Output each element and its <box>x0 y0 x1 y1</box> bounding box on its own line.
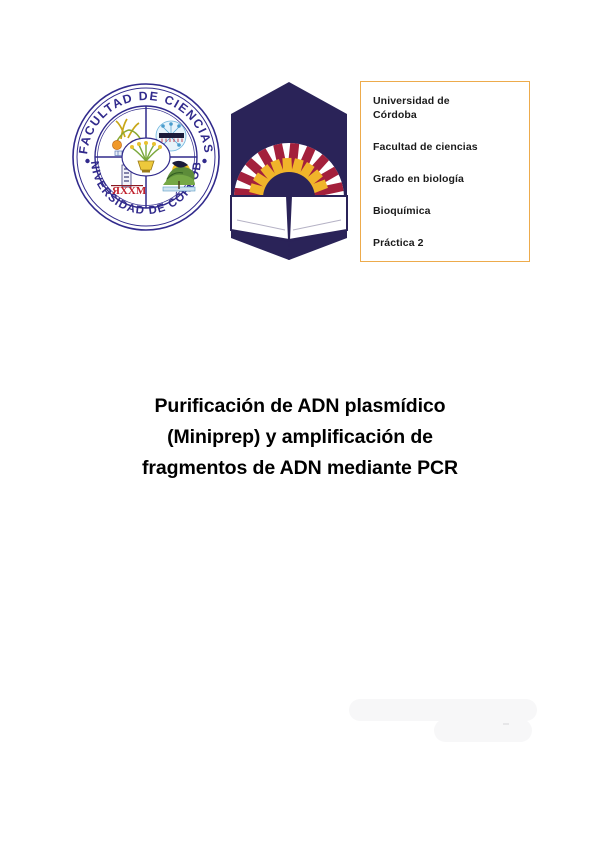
info-line-faculty: Facultad de ciencias <box>373 140 529 154</box>
title-line-2: (Miniprep) y amplificación de <box>70 422 530 453</box>
info-line-university: Universidad de Córdoba <box>373 94 529 122</box>
svg-text:ЯXXM: ЯXXM <box>112 185 147 197</box>
title-line-1: Purificación de ADN plasmídico <box>70 391 530 422</box>
erased-mark-speck <box>503 723 509 725</box>
info-line-subject: Bioquímica <box>373 204 529 218</box>
uco-logo-graphic <box>227 80 351 262</box>
faculty-seal-graphic: FACULTAD DE CIENCIAS UNIVERSIDAD DE CÓRD… <box>71 81 221 233</box>
universidad-de-cordoba-logo <box>227 80 351 262</box>
open-book-graphic <box>231 196 347 260</box>
erased-mark-upper <box>349 699 537 721</box>
erased-mark-lower-inner <box>438 721 530 742</box>
document-page: FACULTAD DE CIENCIAS UNIVERSIDAD DE CÓRD… <box>0 0 600 848</box>
info-line-degree: Grado en biología <box>373 172 529 186</box>
info-line-practice: Práctica 2 <box>373 236 529 250</box>
header-logos-band: FACULTAD DE CIENCIAS UNIVERSIDAD DE CÓRD… <box>0 0 600 290</box>
center-plant-emblem <box>122 138 170 176</box>
title-line-3: fragmentos de ADN mediante PCR <box>70 453 530 484</box>
document-title: Purificación de ADN plasmídico (Miniprep… <box>70 391 530 484</box>
course-info-box: Universidad de Córdoba Facultad de cienc… <box>360 81 530 262</box>
faculty-of-sciences-seal: FACULTAD DE CIENCIAS UNIVERSIDAD DE CÓRD… <box>71 81 221 233</box>
